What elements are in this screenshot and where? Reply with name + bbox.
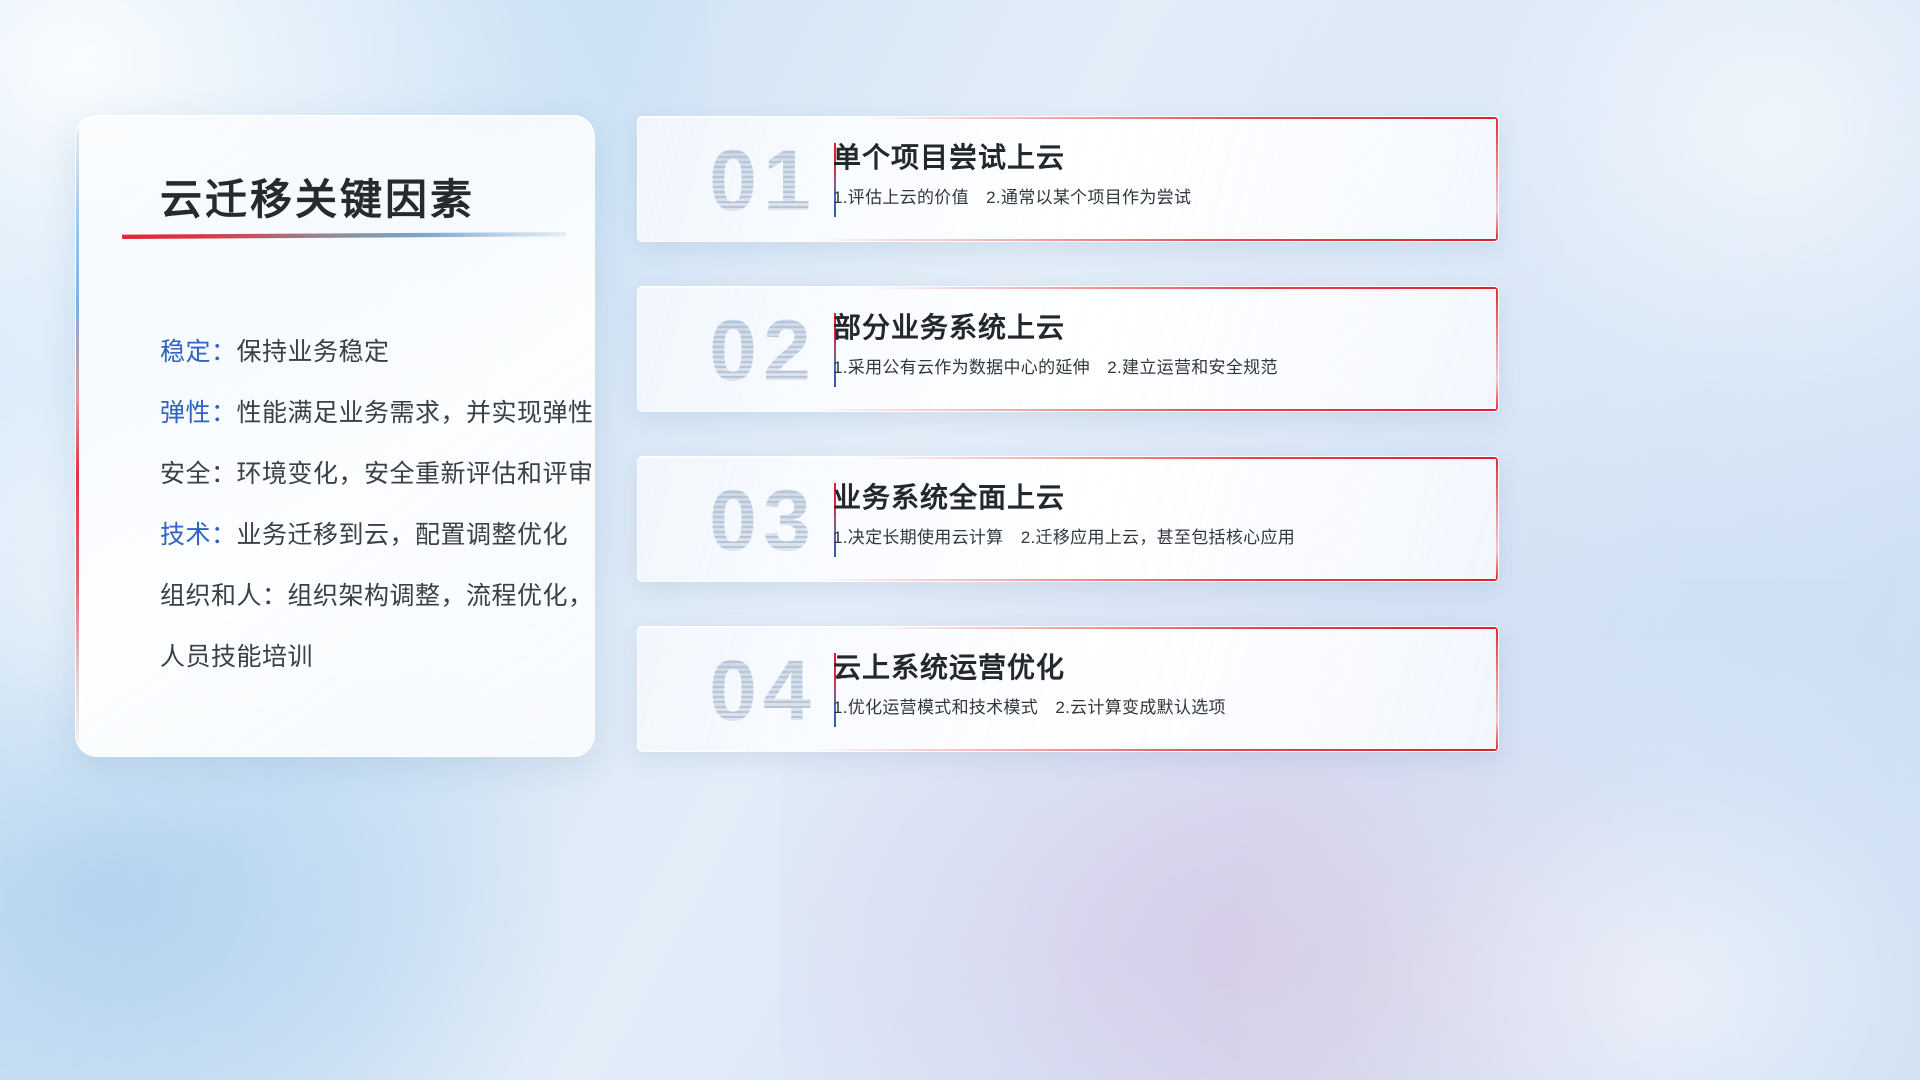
card-subtitle: 1.优化运营模式和技术模式 2.云计算变成默认选项 <box>833 695 1478 721</box>
card-accent-bottom <box>810 239 1498 241</box>
card-accent-top <box>862 117 1498 119</box>
list-item-body: 性能满足业务需求，并实现弹性 <box>237 399 594 427</box>
list-item-body: 保持业务稳定 <box>237 338 390 366</box>
card-title: 云上系统运营优化 <box>833 649 1478 687</box>
card-accent-top <box>862 287 1498 289</box>
card-title: 业务系统全面上云 <box>833 479 1478 517</box>
card-title: 单个项目尝试上云 <box>833 139 1478 177</box>
card-title: 部分业务系统上云 <box>833 309 1478 347</box>
card-subtitle: 1.评估上云的价值 2.通常以某个项目作为尝试 <box>833 185 1478 211</box>
panel-accent-edge <box>76 116 79 756</box>
list-item-label: 技术： <box>160 521 237 549</box>
step-number-watermark: 02 <box>668 301 858 401</box>
card-accent-top <box>862 457 1498 459</box>
card-accent-right <box>1496 627 1498 751</box>
card-accent-bottom <box>810 579 1498 581</box>
list-item-body: 环境变化，安全重新评估和评审 <box>237 460 594 488</box>
card-text-block: 部分业务系统上云 1.采用公有云作为数据中心的延伸 2.建立运营和安全规范 <box>833 309 1478 381</box>
list-item-label: 稳定： <box>160 338 237 366</box>
step-card[interactable]: 03 业务系统全面上云 1.决定长期使用云计算 2.迁移应用上云，甚至包括核心应… <box>637 456 1499 582</box>
slide-stage: 云迁移关键因素 稳定：保持业务稳定 弹性：性能满足业务需求，并实现弹性 安全：环… <box>0 0 1920 1080</box>
step-number-watermark: 03 <box>668 471 858 571</box>
card-text-block: 单个项目尝试上云 1.评估上云的价值 2.通常以某个项目作为尝试 <box>833 139 1478 211</box>
card-accent-right <box>1496 457 1498 581</box>
list-item-body: 组织架构调整，流程优化， <box>288 582 594 610</box>
list-item-label: 弹性： <box>160 399 237 427</box>
card-text-block: 业务系统全面上云 1.决定长期使用云计算 2.迁移应用上云，甚至包括核心应用 <box>833 479 1478 551</box>
card-subtitle: 1.决定长期使用云计算 2.迁移应用上云，甚至包括核心应用 <box>833 525 1478 551</box>
list-item-body: 业务迁移到云，配置调整优化 <box>237 521 569 549</box>
title-underline-bar <box>122 232 566 239</box>
page-title: 云迁移关键因素 <box>160 166 475 227</box>
list-item-label: 组织和人： <box>160 582 288 610</box>
step-card[interactable]: 01 单个项目尝试上云 1.评估上云的价值 2.通常以某个项目作为尝试 <box>637 116 1499 242</box>
list-item: 组织和人：组织架构调整，流程优化， <box>160 566 554 627</box>
step-number-watermark: 01 <box>668 131 858 231</box>
card-text-block: 云上系统运营优化 1.优化运营模式和技术模式 2.云计算变成默认选项 <box>833 649 1478 721</box>
list-item-label: 安全： <box>160 460 237 488</box>
step-card[interactable]: 02 部分业务系统上云 1.采用公有云作为数据中心的延伸 2.建立运营和安全规范 <box>637 286 1499 412</box>
list-item-body: 人员技能培训 <box>160 643 313 671</box>
list-item-continuation: 人员技能培训 <box>160 627 554 688</box>
key-factors-list: 稳定：保持业务稳定 弹性：性能满足业务需求，并实现弹性 安全：环境变化，安全重新… <box>160 322 554 688</box>
step-card[interactable]: 04 云上系统运营优化 1.优化运营模式和技术模式 2.云计算变成默认选项 <box>637 626 1499 752</box>
card-subtitle: 1.采用公有云作为数据中心的延伸 2.建立运营和安全规范 <box>833 355 1478 381</box>
card-accent-right <box>1496 287 1498 411</box>
card-accent-bottom <box>810 749 1498 751</box>
list-item: 弹性：性能满足业务需求，并实现弹性 <box>160 383 554 444</box>
list-item: 安全：环境变化，安全重新评估和评审 <box>160 444 554 505</box>
card-accent-bottom <box>810 409 1498 411</box>
step-number-watermark: 04 <box>668 641 858 741</box>
list-item: 稳定：保持业务稳定 <box>160 322 554 383</box>
card-accent-top <box>862 627 1498 629</box>
key-factors-panel: 云迁移关键因素 稳定：保持业务稳定 弹性：性能满足业务需求，并实现弹性 安全：环… <box>75 115 595 757</box>
card-accent-right <box>1496 117 1498 241</box>
list-item: 技术：业务迁移到云，配置调整优化 <box>160 505 554 566</box>
